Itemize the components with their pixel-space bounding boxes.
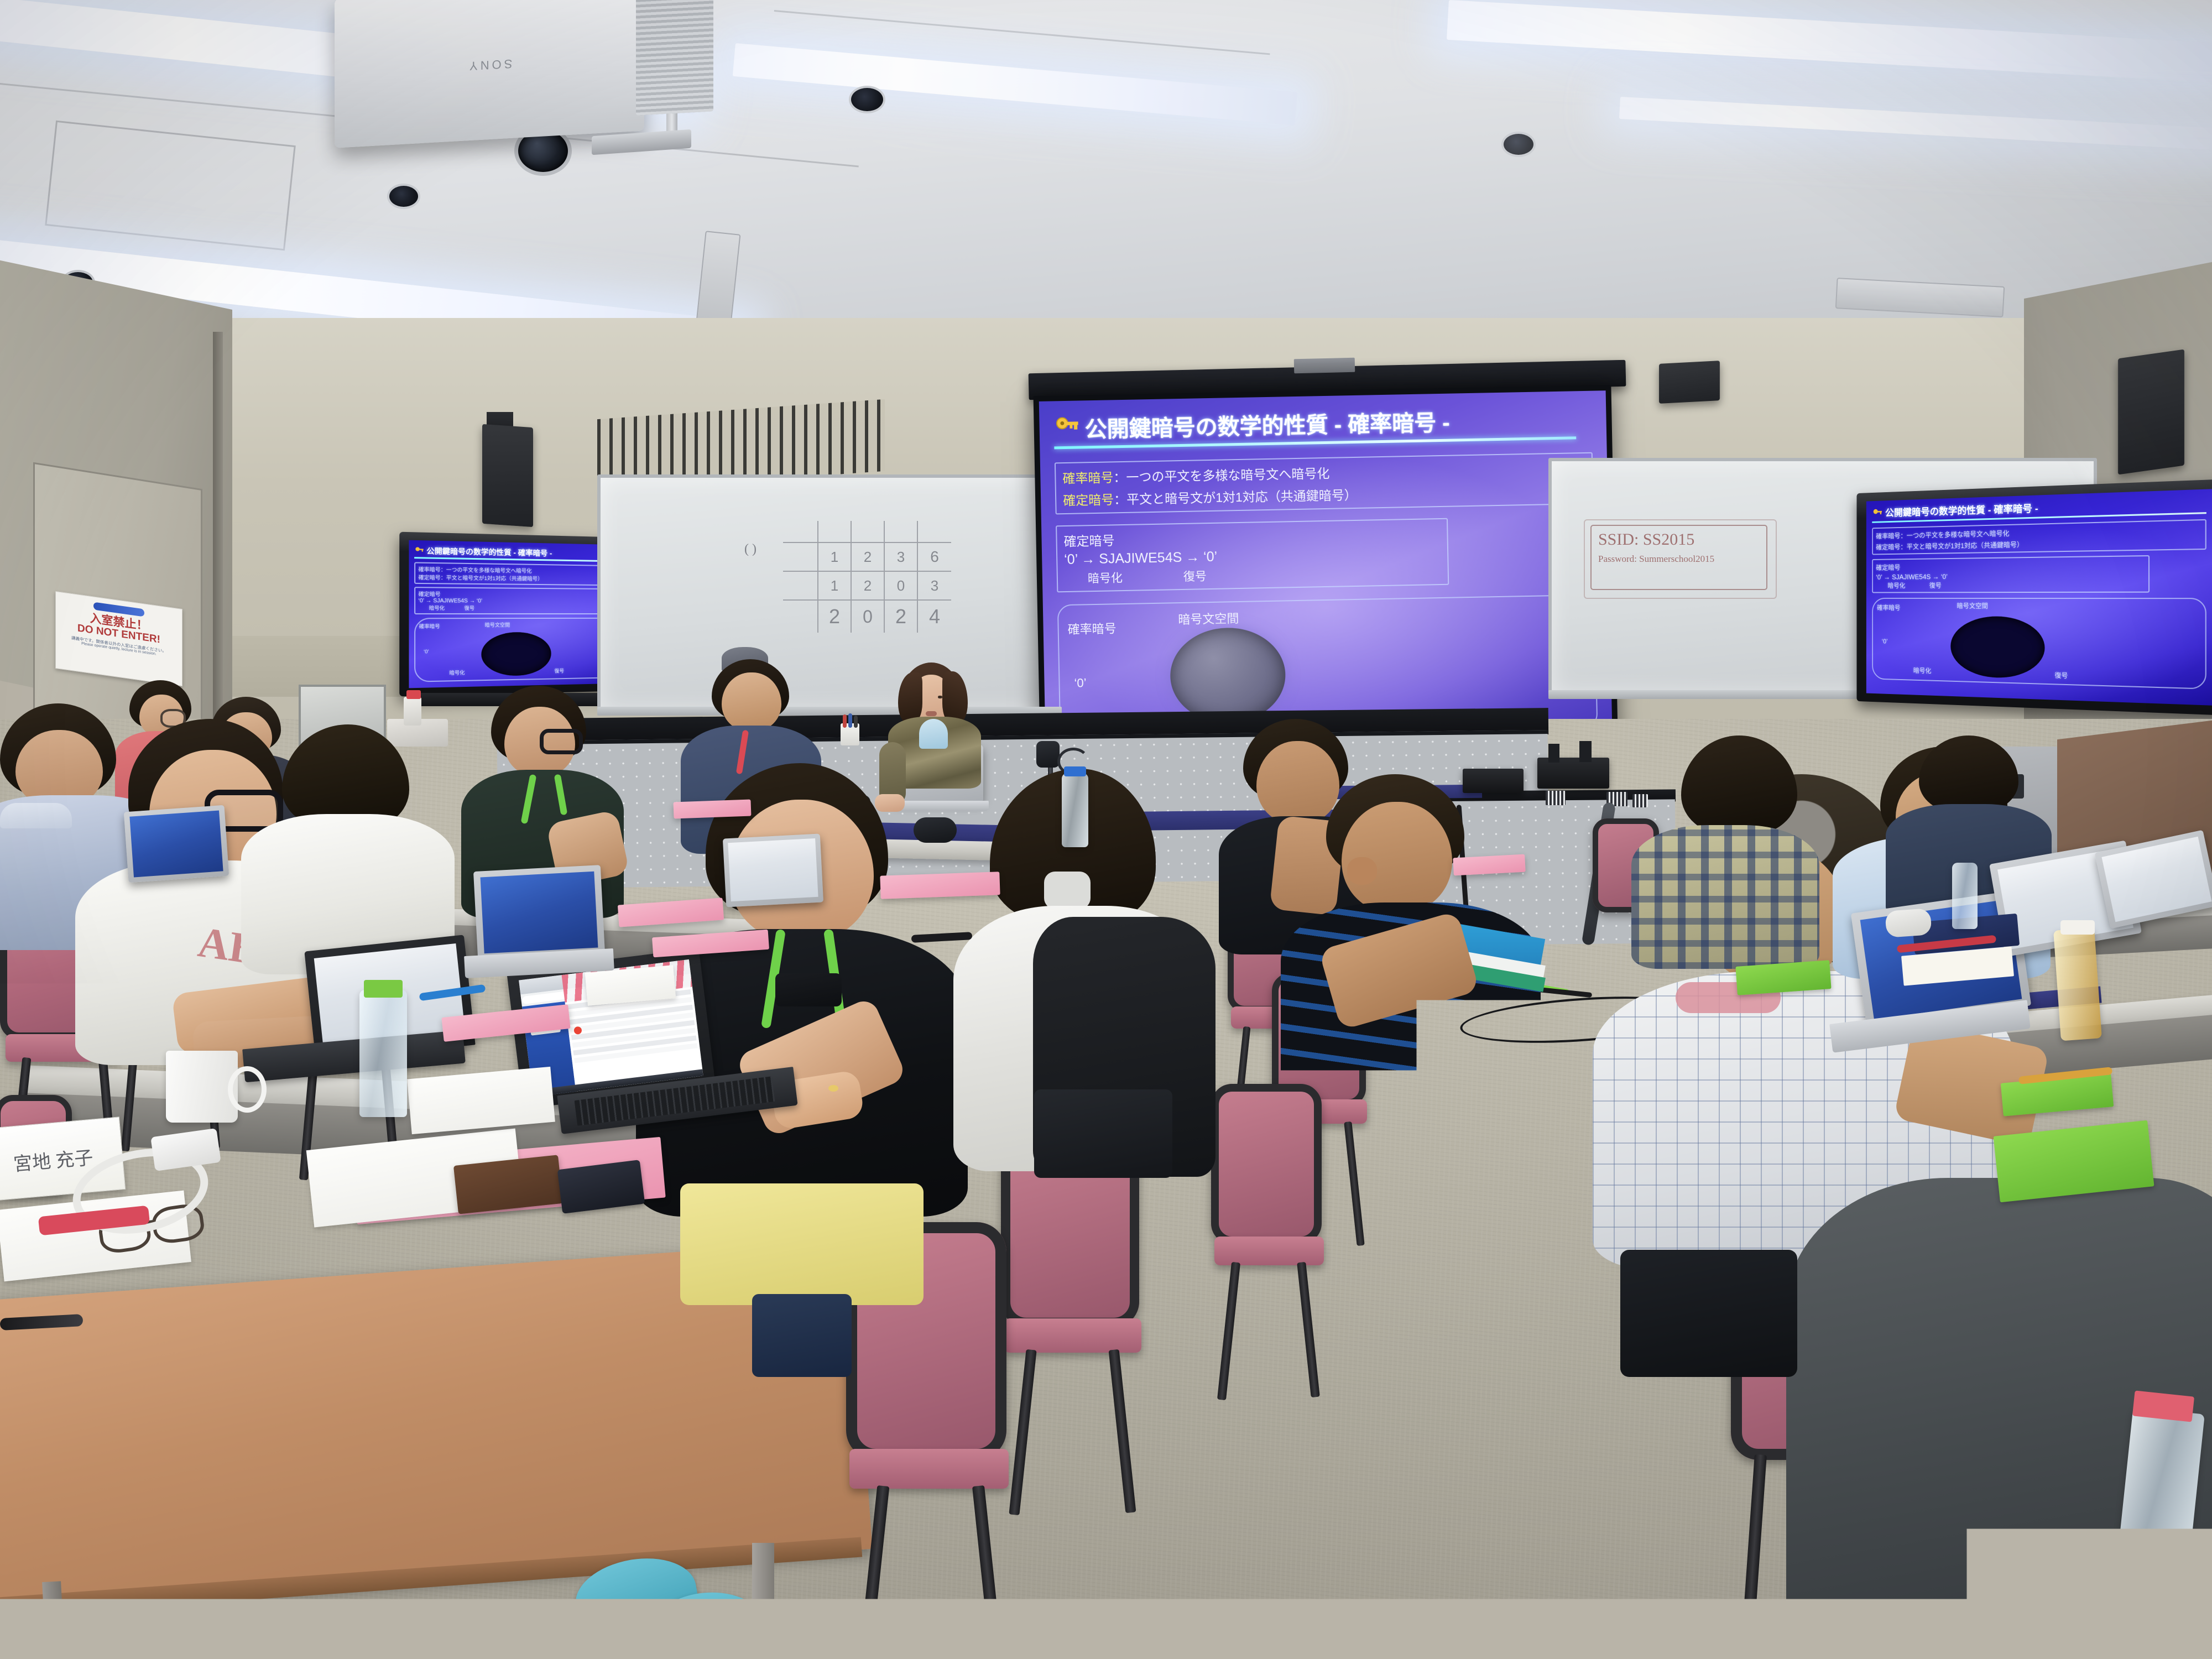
wb-cell: 2 [852,572,885,601]
wall-monitor-right: 公開鍵暗号の数学的性質 - 確率暗号 - 確率暗号：一つの平文を多様な暗号文へ暗… [1857,479,2212,715]
lecturer-hair-side-left [898,672,922,723]
classroom-photo: SONY 入室禁止！ DO NOT ENTER! 講義中です。関係者以外の入室は… [0,0,2212,1659]
slide-title: 公開鍵暗号の数学的性質 - 確率暗号 - [1084,405,1450,444]
face [722,672,781,731]
water-bottle[interactable] [1062,773,1088,847]
right-monitor-ciphertext-space-oval [1950,616,2044,679]
ceiling-downlight [849,86,885,113]
wb-cell: 0 [885,572,918,601]
wb-cell: 2 [885,601,918,633]
wb-cell: 4 [918,601,951,633]
right-monitor-plain: ‘0’ [1882,638,1888,645]
whiteboard-handwritten-table: 1 2 3 6 1 2 0 3 2 0 2 4 [783,521,971,637]
right-monitor-left-label: 確率暗号 [1877,603,1900,612]
wb-cell: 3 [885,543,918,572]
left-monitor-plain: ‘0’ [424,649,429,654]
lecturer-mouth [926,711,937,716]
sock-leg [752,1294,852,1377]
mug-handle [228,1066,267,1113]
slide-box3-left-label: 確率暗号 [1067,619,1117,638]
hair [1681,735,1797,835]
floor-light-reflection [1327,1106,1747,1316]
right-monitor-sub-right: 復号 [1929,581,1942,590]
glasses-icon [540,729,583,754]
left-monitor-top-label: 暗号文空間 [485,621,510,628]
wb-cell: 3 [918,572,951,601]
ciphertext-space-oval [1170,627,1286,724]
bottle-cap-green [364,980,403,998]
microphone-head [1036,741,1060,768]
right-monitor-heading: 確定暗号 [1876,559,2145,572]
water-bottle-right[interactable] [1952,863,1978,929]
right-monitor-title: 公開鍵暗号の数学的性質 - 確率暗号 - [1885,500,2038,519]
water-bottle[interactable] [359,990,407,1117]
right-monitor-bottom-right: 復号 [2054,670,2068,680]
slide-box2-sub-right: 復号 [1183,567,1207,585]
key-icon [1872,507,1882,519]
projector-brand-label: SONY [467,56,512,74]
left-monitor-sub-left: 暗号化 [429,604,445,611]
pen-red[interactable] [843,714,847,728]
mouse-center[interactable] [914,817,957,843]
whiteboard-center: ( ) 1 2 3 6 1 2 0 3 2 0 [597,474,1068,713]
slide-box1-text-1: ：一つの平文を多様な暗号文へ暗号化 [1113,466,1329,485]
wb-cell: 1 [818,572,852,601]
left-monitor-bottom-left: 暗号化 [449,669,465,676]
slide-box1-label-1: 確率暗号 [1062,470,1113,486]
wb-cell: 6 [918,543,951,572]
ring [828,1085,838,1092]
pink-booklet[interactable] [880,872,1000,899]
polo-collar [0,803,72,828]
equipment-mount-post-right [1579,741,1592,762]
ceiling-speaker-left [482,424,533,527]
slide-box1-text-2: ：平文と暗号文が1対1対応（共通鍵暗号） [1114,488,1357,507]
key-icon [1053,414,1079,442]
pink-booklet[interactable] [674,800,752,819]
right-monitor-bottom-left: 暗号化 [1913,666,1932,675]
ear [1347,857,1377,885]
yellow-shorts [680,1183,924,1305]
pen-black[interactable] [854,716,858,728]
name-card-text: 宮地 充子 [12,1142,94,1176]
lecturer-eye-right [938,696,942,698]
lecturer [878,662,989,779]
left-monitor-title: 公開鍵暗号の数学的性質 - 確率暗号 - [426,545,552,559]
bottle-cap-red [406,690,421,699]
coffee-mug[interactable] [166,1051,238,1123]
slide-box3-plaintext: ‘0’ [1074,676,1087,690]
bottle-cap-blue [1064,766,1086,776]
left-monitor-sub-right: 復号 [465,604,475,612]
right-monitor-slide: 公開鍵暗号の数学的性質 - 確率暗号 - 確率暗号：一つの平文を多様な暗号文へ暗… [1866,489,2212,706]
pen-blue[interactable] [848,713,852,728]
bag-under-table [1034,1089,1172,1178]
shirt-logo [775,973,842,1006]
wb-cell: 0 [852,601,885,633]
student-striped-shirt [1261,774,1548,1117]
wb-cell: 2 [852,543,885,572]
key-icon [414,545,424,555]
laptop-left-row[interactable] [124,805,229,883]
wall-mullion [213,332,223,741]
face-mask [1044,872,1091,909]
left-monitor-ciphertext-space-oval [481,632,551,676]
screen-ceiling-bracket [1294,358,1355,373]
laptop-center-row[interactable] [723,833,823,907]
right-monitor-sub-left: 暗号化 [1887,581,1905,589]
wb-cell: 1 [818,543,852,572]
ceiling-downlight [1501,132,1536,157]
wall-speaker-center-right [1659,361,1720,404]
lecturer-scarf [919,719,948,749]
torso-plaid [1631,825,1819,969]
bottle-on-shelf [404,697,421,726]
mouse-right[interactable] [1885,908,1932,938]
ceiling-speaker-right [2118,349,2184,475]
slide-box2-sub-left: 暗号化 [1088,569,1123,586]
projector-vent-grille [636,0,713,116]
hair [1919,735,2018,813]
right-monitor-top-label: 暗号文空間 [1957,601,1987,611]
laptop-center-left[interactable] [473,865,605,960]
left-monitor-bottom-right: 復号 [555,667,565,674]
tea-bottle[interactable] [2053,928,2102,1041]
left-monitor-left-label: 確率暗号 [419,622,440,630]
equipment-mount-post-left [1548,744,1559,763]
pink-sticky-pad[interactable] [1453,854,1525,876]
whiteboard-marker-text: ( ) [744,542,757,557]
student-plaid-shirt [1620,735,1830,968]
wb-cell: 2 [818,601,852,633]
tea-bottle-cap [2060,920,2095,935]
wifi-box-outer-border [1584,519,1777,599]
slide-box1-label-2: 確定暗号 [1063,492,1114,508]
ceiling-projector: SONY [335,0,644,148]
network-patch-panel-1 [1546,791,1566,805]
ceiling-downlight [387,184,420,209]
slide-box3-top-label: 暗号文空間 [1178,609,1239,628]
